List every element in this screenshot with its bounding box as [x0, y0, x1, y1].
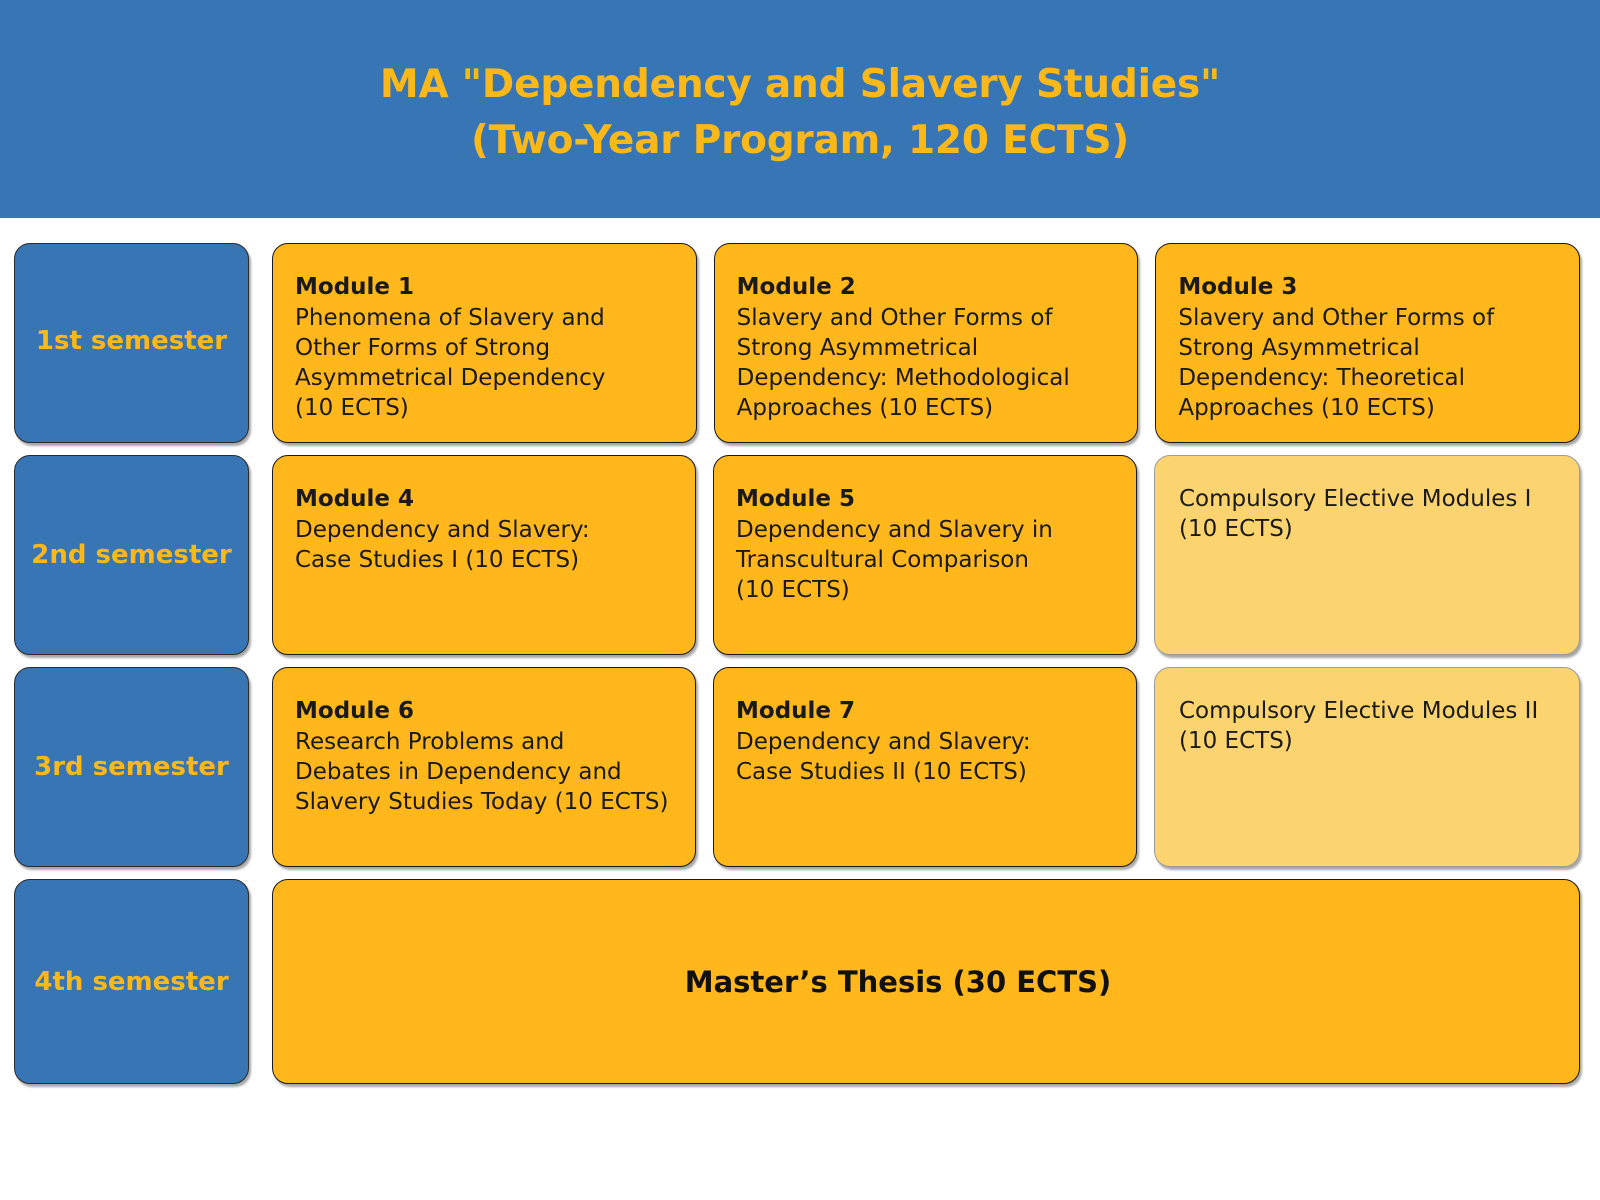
elective-card-body: Compulsory Elective Modules II (10 ECTS): [1179, 696, 1557, 756]
semester-row-4: 4th semester Master’s Thesis (30 ECTS): [14, 879, 1580, 1084]
semester-row-2: 2nd semester Module 4 Dependency and Sla…: [14, 455, 1580, 655]
semester-label-3: 3rd semester: [14, 667, 249, 867]
module-card-body: Dependency and Slavery: Case Studies II …: [736, 727, 1114, 787]
module-card-4[interactable]: Module 4 Dependency and Slavery: Case St…: [272, 455, 696, 655]
semester-label-1: 1st semester: [14, 243, 249, 443]
elective-card-body: Compulsory Elective Modules I (10 ECTS): [1179, 484, 1557, 544]
module-card-title: Module 3: [1178, 272, 1557, 302]
module-card-body: Dependency and Slavery: Case Studies I (…: [295, 515, 673, 575]
module-card-1[interactable]: Module 1 Phenomena of Slavery and Other …: [272, 243, 697, 443]
module-card-6[interactable]: Module 6 Research Problems and Debates i…: [272, 667, 696, 867]
elective-card-1[interactable]: Compulsory Elective Modules I (10 ECTS): [1154, 455, 1580, 655]
curriculum-grid: 1st semester Module 1 Phenomena of Slave…: [0, 218, 1600, 1200]
thesis-card[interactable]: Master’s Thesis (30 ECTS): [272, 879, 1580, 1084]
module-card-7[interactable]: Module 7 Dependency and Slavery: Case St…: [713, 667, 1137, 867]
module-card-2[interactable]: Module 2 Slavery and Other Forms of Stro…: [714, 243, 1139, 443]
module-card-body: Dependency and Slavery in Transcultural …: [736, 515, 1114, 605]
module-card-3[interactable]: Module 3 Slavery and Other Forms of Stro…: [1155, 243, 1580, 443]
semester-label-text: 1st semester: [36, 326, 227, 356]
module-card-title: Module 5: [736, 484, 1114, 514]
module-card-title: Module 6: [295, 696, 673, 726]
semester-row-3: 3rd semester Module 6 Research Problems …: [14, 667, 1580, 867]
semester-label-2: 2nd semester: [14, 455, 249, 655]
thesis-label-text: Master’s Thesis (30 ECTS): [685, 965, 1112, 999]
module-card-body: Slavery and Other Forms of Strong Asymme…: [1178, 303, 1557, 423]
semester-label-4: 4th semester: [14, 879, 249, 1084]
module-card-5[interactable]: Module 5 Dependency and Slavery in Trans…: [713, 455, 1137, 655]
semester-label-text: 2nd semester: [31, 540, 231, 570]
semester-row-1: 1st semester Module 1 Phenomena of Slave…: [14, 243, 1580, 443]
page-title-line-1: MA "Dependency and Slavery Studies": [380, 57, 1220, 113]
page-title-line-2: (Two-Year Program, 120 ECTS): [471, 113, 1129, 169]
semester-label-text: 4th semester: [34, 967, 228, 997]
module-card-title: Module 1: [295, 272, 674, 302]
module-card-title: Module 2: [737, 272, 1116, 302]
elective-card-2[interactable]: Compulsory Elective Modules II (10 ECTS): [1154, 667, 1580, 867]
module-card-title: Module 7: [736, 696, 1114, 726]
semester-label-text: 3rd semester: [34, 752, 229, 782]
program-header-banner: MA "Dependency and Slavery Studies" (Two…: [0, 0, 1600, 218]
module-card-body: Slavery and Other Forms of Strong Asymme…: [737, 303, 1116, 423]
module-card-body: Research Problems and Debates in Depende…: [295, 727, 673, 817]
module-card-title: Module 4: [295, 484, 673, 514]
module-card-body: Phenomena of Slavery and Other Forms of …: [295, 303, 674, 423]
